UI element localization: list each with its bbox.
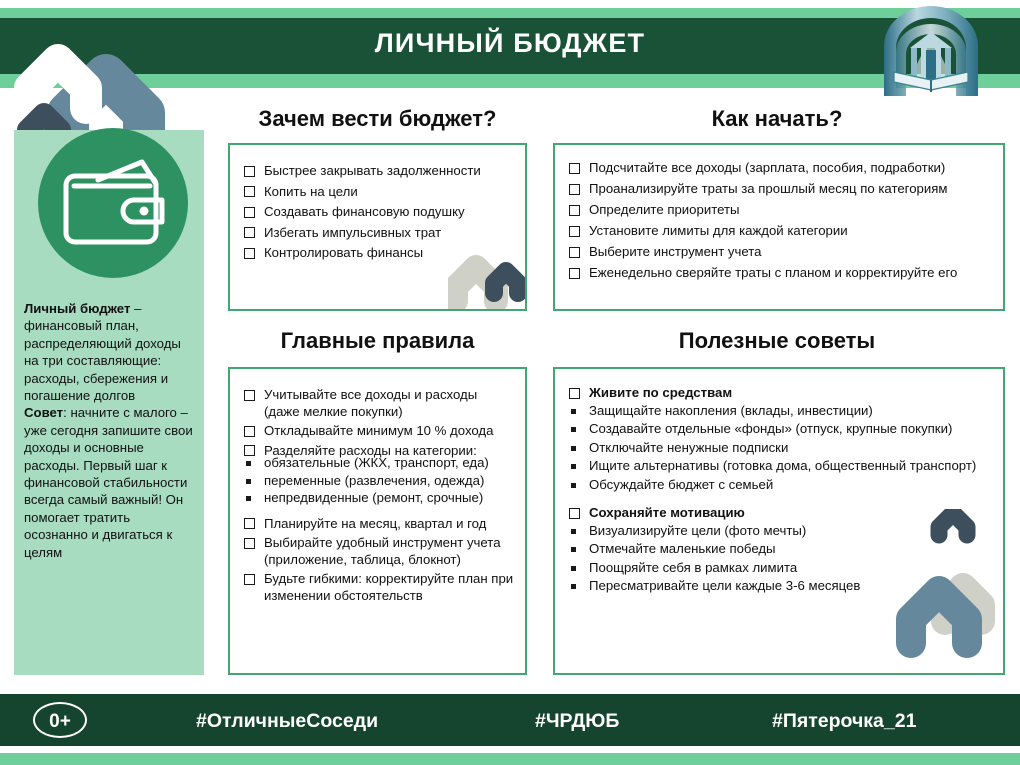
sublist-item-label: обязательные (ЖКХ, транспорт, еда): [264, 455, 489, 470]
square-bullet-icon: [571, 409, 576, 414]
square-bullet-icon: [246, 496, 251, 501]
wallet-icon: [60, 158, 168, 250]
rules-list: Учитывайте все доходы и расходы (даже ме…: [244, 387, 515, 604]
checklist-item: Подсчитайте все доходы (зарплата, пособи…: [569, 160, 995, 177]
sublist-item: Пересматривайте цели каждые 3-6 месяцев: [569, 578, 993, 595]
square-bullet-icon: [571, 584, 576, 589]
square-bullet-icon: [571, 529, 576, 534]
sublist-item: Визуализируйте цели (фото мечты): [569, 523, 993, 540]
library-arch-book-logo: [878, 4, 984, 98]
square-bullet-icon: [246, 461, 251, 466]
sublist-item: Отмечайте маленькие победы: [569, 541, 993, 558]
tip-body: : начните с малого – уже сегодня запишит…: [24, 405, 193, 559]
checklist-item-label: Быстрее закрывать задолженности: [264, 163, 481, 178]
definition-body: – финансовый план, распределяющий доходы…: [24, 301, 181, 403]
checklist-item: Выберите инструмент учета: [569, 244, 995, 261]
checklist-item-label: Избегать импульсивных трат: [264, 225, 441, 240]
checkbox-icon[interactable]: [244, 166, 255, 177]
panel-why: Быстрее закрывать задолженностиКопить на…: [228, 143, 527, 311]
checklist-item: Создавать финансовую подушку: [244, 204, 515, 221]
square-bullet-icon: [246, 479, 251, 484]
checklist-item: Копить на цели: [244, 184, 515, 201]
checklist-item: Выбирайте удобный инструмент учета (прил…: [244, 535, 515, 568]
checkbox-icon[interactable]: [244, 186, 255, 197]
footer-bottom-stripe: [0, 753, 1020, 765]
hashtag-3[interactable]: #Пятерочка_21: [772, 710, 916, 733]
sublist-item-label: Отмечайте маленькие победы: [589, 541, 776, 556]
checklist-item: Быстрее закрывать задолженности: [244, 163, 515, 180]
section-title-tips: Полезные советы: [552, 328, 1002, 354]
checkbox-icon[interactable]: [569, 508, 580, 519]
section-title-why: Зачем вести бюджет?: [225, 106, 530, 132]
sublist-item-label: Защищайте накопления (вклады, инвестиции…: [589, 403, 873, 418]
checklist-item-label: Копить на цели: [264, 184, 358, 199]
why-list: Быстрее закрывать задолженностиКопить на…: [244, 163, 515, 262]
how-list: Подсчитайте все доходы (зарплата, пособи…: [569, 160, 995, 282]
sublist-item: Ищите альтернативы (готовка дома, общест…: [569, 458, 993, 475]
checklist-item: Будьте гибкими: корректируйте план при и…: [244, 571, 515, 604]
rules-group: Откладывайте минимум 10 % дохода: [244, 423, 515, 440]
checkbox-icon[interactable]: [244, 390, 255, 401]
checkbox-icon[interactable]: [244, 227, 255, 238]
sublist-item-label: Обсуждайте бюджет с семьей: [589, 477, 773, 492]
tips-sublist: Защищайте накопления (вклады, инвестиции…: [569, 403, 993, 494]
hashtag-1[interactable]: #ОтличныеСоседи: [196, 710, 378, 733]
definition-term: Личный бюджет: [24, 301, 130, 316]
checkbox-icon[interactable]: [569, 226, 580, 237]
square-bullet-icon: [571, 464, 576, 469]
checklist-item-label: Еженедельно сверяйте траты с планом и ко…: [589, 265, 957, 280]
sidebar-description: Личный бюджет – финансовый план, распред…: [24, 300, 194, 561]
checklist-item: Контролировать финансы: [244, 245, 515, 262]
sublist-item: Отключайте ненужные подписки: [569, 440, 993, 457]
chevron-decor-header: [6, 18, 176, 148]
panel-how: Подсчитайте все доходы (зарплата, пособи…: [553, 143, 1005, 311]
checkbox-icon[interactable]: [569, 163, 580, 174]
checklist-item-label: Определите приоритеты: [589, 202, 740, 217]
checklist-item: Учитывайте все доходы и расходы (даже ме…: [244, 387, 515, 420]
rules-group: Учитывайте все доходы и расходы (даже ме…: [244, 387, 515, 420]
checkbox-icon[interactable]: [244, 538, 255, 549]
checklist-item: Живите по средствам: [569, 385, 993, 402]
tips-group: Живите по средствамЗащищайте накопления …: [569, 385, 993, 493]
square-bullet-icon: [571, 547, 576, 552]
sublist-item: Создавайте отдельные «фонды» (отпуск, кр…: [569, 421, 993, 438]
sublist-item-label: Поощряйте себя в рамках лимита: [589, 560, 797, 575]
square-bullet-icon: [571, 427, 576, 432]
tips-group-heading: Сохраняйте мотивацию: [569, 505, 993, 522]
square-bullet-icon: [571, 566, 576, 571]
rules-group: Выбирайте удобный инструмент учета (прил…: [244, 535, 515, 568]
checklist-item-label: Проанализируйте траты за прошлый месяц п…: [589, 181, 947, 196]
checkbox-icon[interactable]: [569, 205, 580, 216]
rules-group: Будьте гибкими: корректируйте план при и…: [244, 571, 515, 604]
age-rating-badge: 0+: [33, 702, 87, 738]
checkbox-icon[interactable]: [569, 184, 580, 195]
checklist-item: Установите лимиты для каждой категории: [569, 223, 995, 240]
sublist-item-label: Визуализируйте цели (фото мечты): [589, 523, 806, 538]
square-bullet-icon: [571, 483, 576, 488]
sublist-item: обязательные (ЖКХ, транспорт, еда): [244, 455, 515, 472]
checklist-item-label: Создавать финансовую подушку: [264, 204, 465, 219]
section-title-rules: Главные правила: [225, 328, 530, 354]
sublist-item-label: Отключайте ненужные подписки: [589, 440, 788, 455]
section-title-how: Как начать?: [552, 106, 1002, 132]
tip-term: Совет: [24, 405, 63, 420]
checklist-item-label: Контролировать финансы: [264, 245, 423, 260]
tips-sublist: Визуализируйте цели (фото мечты)Отмечайт…: [569, 523, 993, 595]
checkbox-icon[interactable]: [569, 247, 580, 258]
checklist-item-label: Выбирайте удобный инструмент учета (прил…: [264, 535, 501, 567]
checklist-item-label: Подсчитайте все доходы (зарплата, пособи…: [589, 160, 945, 175]
checklist-item-label: Планируйте на месяц, квартал и год: [264, 516, 486, 531]
checklist-item: Планируйте на месяц, квартал и год: [244, 516, 515, 533]
rules-sublist: обязательные (ЖКХ, транспорт, еда)переме…: [244, 455, 515, 507]
sublist-item-label: переменные (развлечения, одежда): [264, 473, 484, 488]
tips-groups: Живите по средствамЗащищайте накопления …: [569, 385, 993, 595]
checklist-item-label: Откладывайте минимум 10 % дохода: [264, 423, 493, 438]
checklist-item-label: Будьте гибкими: корректируйте план при и…: [264, 571, 513, 603]
sublist-item-label: непредвиденные (ремонт, срочные): [264, 490, 483, 505]
checklist-item: Откладывайте минимум 10 % дохода: [244, 423, 515, 440]
checklist-item: Определите приоритеты: [569, 202, 995, 219]
checklist-item: Проанализируйте траты за прошлый месяц п…: [569, 181, 995, 198]
panel-tips: Живите по средствамЗащищайте накопления …: [553, 367, 1005, 675]
checkbox-icon[interactable]: [244, 518, 255, 529]
checklist-item: Еженедельно сверяйте траты с планом и ко…: [569, 265, 995, 282]
checklist-item: Избегать импульсивных трат: [244, 225, 515, 242]
checkbox-icon[interactable]: [569, 388, 580, 399]
panel-rules: Учитывайте все доходы и расходы (даже ме…: [228, 367, 527, 675]
checklist-item-label: Учитывайте все доходы и расходы (даже ме…: [264, 387, 477, 419]
checkbox-icon[interactable]: [244, 207, 255, 218]
sublist-item: непредвиденные (ремонт, срочные): [244, 490, 515, 507]
checklist-item-label: Живите по средствам: [589, 385, 732, 400]
sublist-item-label: Ищите альтернативы (готовка дома, общест…: [589, 458, 976, 473]
checkbox-icon[interactable]: [569, 268, 580, 279]
sublist-item-label: Пересматривайте цели каждые 3-6 месяцев: [589, 578, 860, 593]
square-bullet-icon: [571, 446, 576, 451]
checkbox-icon[interactable]: [244, 574, 255, 585]
checkbox-icon[interactable]: [244, 426, 255, 437]
checklist-item-label: Установите лимиты для каждой категории: [589, 223, 848, 238]
sublist-item-label: Создавайте отдельные «фонды» (отпуск, кр…: [589, 421, 952, 436]
sublist-item: Поощряйте себя в рамках лимита: [569, 560, 993, 577]
tips-group-heading: Живите по средствам: [569, 385, 993, 402]
wallet-icon-circle: [38, 128, 188, 278]
sublist-item: переменные (развлечения, одежда): [244, 473, 515, 490]
sublist-item: Защищайте накопления (вклады, инвестиции…: [569, 403, 993, 420]
checkbox-icon[interactable]: [244, 248, 255, 259]
hashtag-2[interactable]: #ЧРДЮБ: [535, 710, 619, 733]
rules-group: Планируйте на месяц, квартал и год: [244, 516, 515, 533]
checklist-item-label: Выберите инструмент учета: [589, 244, 762, 259]
tips-group: Сохраняйте мотивациюВизуализируйте цели …: [569, 505, 993, 595]
checklist-item: Сохраняйте мотивацию: [569, 505, 993, 522]
sublist-item: Обсуждайте бюджет с семьей: [569, 477, 993, 494]
checklist-item-label: Сохраняйте мотивацию: [589, 505, 745, 520]
